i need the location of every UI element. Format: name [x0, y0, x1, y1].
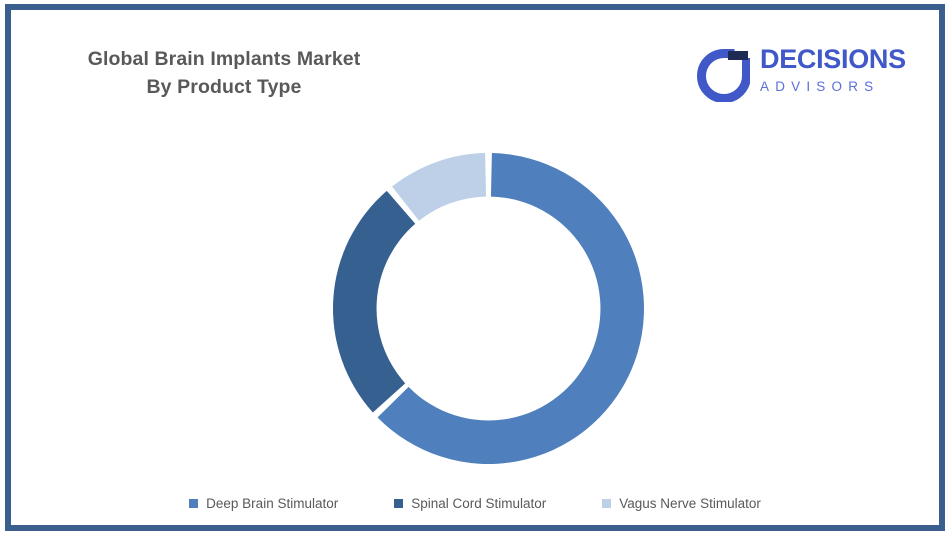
legend-item-label: Vagus Nerve Stimulator — [619, 496, 761, 511]
logo-word-decisions: DECISIONS — [760, 46, 924, 73]
legend-item[interactable]: Spinal Cord Stimulator — [394, 496, 546, 511]
chart-legend: Deep Brain StimulatorSpinal Cord Stimula… — [11, 496, 939, 511]
legend-swatch-icon — [394, 499, 403, 508]
legend-swatch-icon — [602, 499, 611, 508]
donut-chart — [327, 147, 650, 470]
legend-item[interactable]: Deep Brain Stimulator — [189, 496, 338, 511]
logo-wordmark: DECISIONS ADVISORS — [760, 46, 924, 94]
legend-item[interactable]: Vagus Nerve Stimulator — [602, 496, 761, 511]
logo-word-advisors: ADVISORS — [760, 80, 924, 94]
donut-slice — [392, 153, 486, 221]
chart-title-line-1: Global Brain Implants Market — [59, 46, 389, 74]
logo-mark-icon — [694, 46, 750, 102]
donut-slice-group — [333, 153, 644, 464]
brand-logo: DECISIONS ADVISORS — [694, 42, 924, 112]
legend-swatch-icon — [189, 499, 198, 508]
donut-slice — [333, 191, 415, 413]
legend-item-label: Deep Brain Stimulator — [206, 496, 338, 511]
legend-item-label: Spinal Cord Stimulator — [411, 496, 546, 511]
chart-title: Global Brain Implants Market By Product … — [59, 46, 389, 101]
slide-canvas: Global Brain Implants Market By Product … — [5, 4, 945, 531]
chart-title-line-2: By Product Type — [59, 74, 389, 102]
